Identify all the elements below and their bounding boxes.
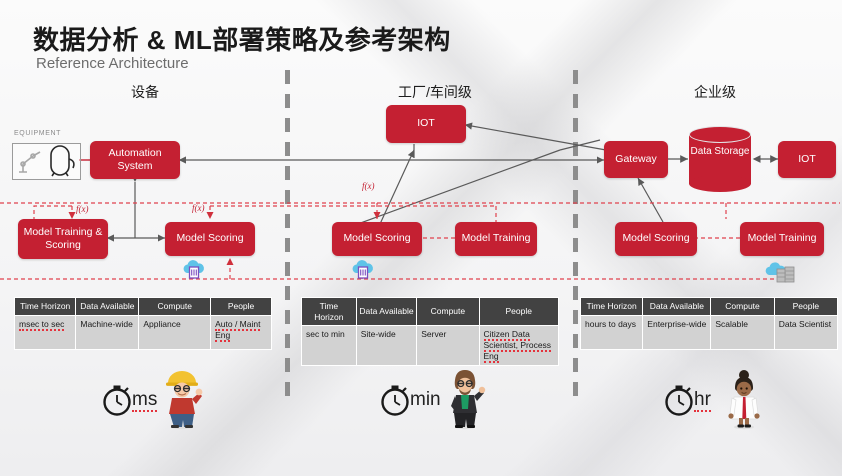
node-plant-model-scoring[interactable]: Model Scoring (332, 222, 422, 256)
cell-people: Auto / Maint Eng (211, 315, 272, 349)
stopwatch-icon (662, 383, 696, 417)
cell-time-horizon: msec to sec (15, 315, 76, 349)
cell-people: Citizen Data Scientist, Process Eng (479, 326, 559, 366)
page-subtitle: Reference Architecture (36, 55, 189, 72)
cell-people: Data Scientist (774, 315, 837, 349)
node-gateway[interactable]: Gateway (604, 141, 668, 178)
node-data-storage[interactable]: Data Storage (689, 126, 751, 192)
node-enterprise-model-training[interactable]: Model Training (740, 222, 824, 256)
time-label-enterprise: hr (694, 389, 711, 411)
table-enterprise: Time Horizon Data Available Compute Peop… (580, 297, 838, 350)
cloud-server-icon (765, 261, 797, 285)
time-label-plant: min (410, 389, 441, 411)
table-header-row: Time Horizon Data Available Compute Peop… (581, 298, 838, 316)
equipment-label: EQUIPMENT (14, 130, 61, 137)
data-analyst-avatar (443, 366, 487, 430)
cell-data-available: Enterprise-wide (643, 315, 711, 349)
cell-time-horizon: hours to days (581, 315, 643, 349)
table-header-row: Time Horizon Data Available Compute Peop… (302, 298, 559, 326)
col-data-available: Data Available (356, 298, 417, 326)
table-plant: Time Horizon Data Available Compute Peop… (301, 297, 559, 366)
stopwatch-icon (378, 383, 412, 417)
cloud-factory-icon2 (351, 258, 375, 280)
time-label-device: ms (132, 389, 157, 411)
col-compute: Compute (417, 298, 479, 326)
stopwatch-icon (100, 383, 134, 417)
zone-header-plant: 工厂/车间级 (380, 82, 490, 102)
col-data-available: Data Available (643, 298, 711, 316)
cell-data-available: Machine-wide (76, 315, 139, 349)
fx-label-device-left: f(x) (76, 204, 89, 214)
table-row: msec to sec Machine-wide Appliance Auto … (15, 315, 272, 349)
cell-compute: Appliance (139, 315, 211, 349)
node-enterprise-iot[interactable]: IOT (778, 141, 836, 178)
col-data-available: Data Available (76, 298, 139, 316)
equipment-box (12, 143, 81, 180)
node-plant-model-training[interactable]: Model Training (455, 222, 537, 256)
zone-divider-right (573, 70, 578, 400)
table-device: Time Horizon Data Available Compute Peop… (14, 297, 272, 350)
table-row: hours to days Enterprise-wide Scalable D… (581, 315, 838, 349)
data-scientist-avatar (723, 368, 765, 430)
col-compute: Compute (139, 298, 211, 316)
zone-header-device: 设备 (95, 82, 195, 102)
col-time-horizon: Time Horizon (15, 298, 76, 316)
cell-compute: Scalable (711, 315, 774, 349)
col-time-horizon: Time Horizon (302, 298, 357, 326)
cell-data-available: Site-wide (356, 326, 417, 366)
col-people: People (479, 298, 559, 326)
zone-divider-left (285, 70, 290, 400)
cylinder-top (689, 126, 751, 143)
tank-vessel-icon (51, 146, 74, 176)
col-time-horizon: Time Horizon (581, 298, 643, 316)
table-header-row: Time Horizon Data Available Compute Peop… (15, 298, 272, 316)
cylinder-bottom (689, 175, 751, 192)
node-device-model-scoring[interactable]: Model Scoring (165, 222, 255, 256)
cloud-factory-icon (182, 258, 206, 280)
robot-arm-icon (19, 152, 40, 172)
node-enterprise-model-scoring[interactable]: Model Scoring (615, 222, 697, 256)
cell-time-horizon: sec to min (302, 326, 357, 366)
fx-label-plant: f(x) (362, 181, 375, 191)
col-people: People (211, 298, 272, 316)
page-title: 数据分析 & ML部署策略及参考架构 (33, 20, 451, 57)
table-row: sec to min Site-wide Server Citizen Data… (302, 326, 559, 366)
col-compute: Compute (711, 298, 774, 316)
node-device-model-training-scoring[interactable]: Model Training & Scoring (18, 219, 108, 259)
zone-header-enterprise: 企业级 (665, 82, 765, 102)
engineer-hardhat-avatar (160, 368, 204, 430)
node-plant-iot[interactable]: IOT (386, 105, 466, 143)
fx-label-device-right: f(x) (192, 203, 205, 213)
cell-compute: Server (417, 326, 479, 366)
col-people: People (774, 298, 837, 316)
data-storage-label: Data Storage (689, 146, 751, 158)
equipment-icons (13, 144, 78, 177)
node-automation-system[interactable]: Automation System (90, 141, 180, 179)
slide-canvas: 数据分析 & ML部署策略及参考架构 Reference Architectur… (0, 0, 842, 476)
